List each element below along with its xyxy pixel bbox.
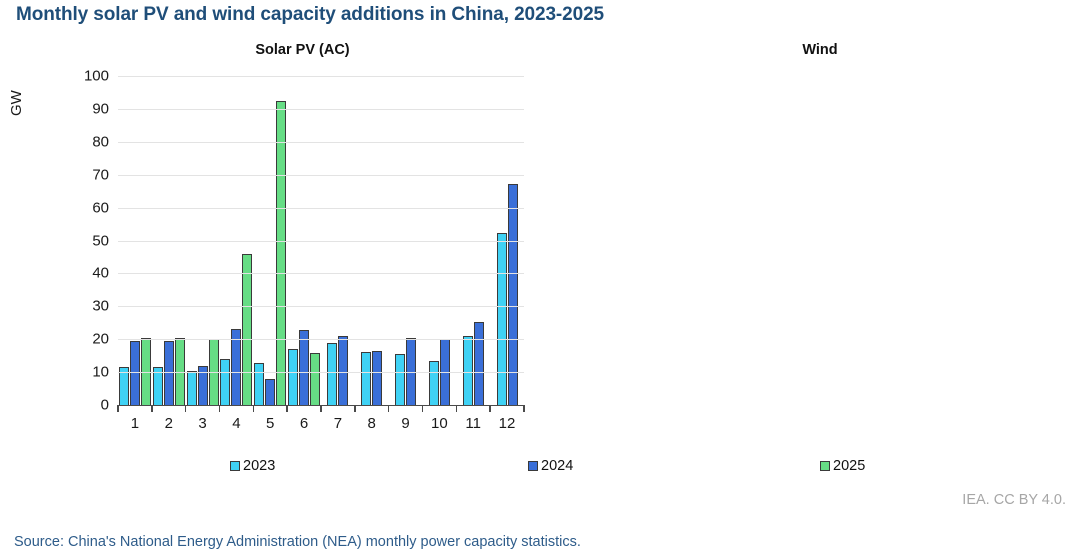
- x-axis-tick-label: 2: [152, 415, 186, 432]
- bar-2023-month-7[interactable]: [327, 343, 337, 405]
- chart-title-wind: Wind: [545, 42, 1065, 58]
- x-axis-tick: [320, 405, 322, 412]
- y-axis-tick-label: 50: [92, 232, 109, 249]
- y-axis-unit-label: GW: [8, 90, 25, 116]
- legend-swatch-2025: [820, 461, 830, 471]
- plot-area-solar: 123456789101112 0102030405060708090100: [118, 76, 524, 406]
- x-axis-tick: [456, 405, 458, 412]
- x-axis-tick: [185, 405, 187, 412]
- gridline: [118, 142, 524, 143]
- legend-item-2025[interactable]: 2025: [820, 458, 865, 474]
- bar-2023-month-8[interactable]: [361, 352, 371, 405]
- legend-item-2024[interactable]: 2024: [528, 458, 573, 474]
- page-title: Monthly solar PV and wind capacity addit…: [16, 4, 604, 26]
- bar-2024-month-11[interactable]: [474, 322, 484, 405]
- bar-2025-month-4[interactable]: [242, 254, 252, 405]
- legend-label-2024: 2024: [541, 458, 573, 474]
- x-axis-tick: [354, 405, 356, 412]
- y-axis-tick-label: 100: [84, 68, 109, 85]
- bar-2024-month-8[interactable]: [372, 351, 382, 405]
- x-axis-tick: [523, 405, 525, 412]
- legend-swatch-2024: [528, 461, 538, 471]
- gridline: [118, 76, 524, 77]
- chart-title-solar: Solar PV (AC): [0, 42, 545, 58]
- panel-solar-pv: Solar PV (AC) GW 123456789101112 0102030…: [0, 38, 545, 448]
- legend-label-2023: 2023: [243, 458, 275, 474]
- y-axis-tick-label: 90: [92, 100, 109, 117]
- bar-2023-month-11[interactable]: [463, 336, 473, 405]
- bar-2024-month-4[interactable]: [231, 329, 241, 405]
- x-axis-tick-label: 10: [422, 415, 456, 432]
- bar-2024-month-6[interactable]: [299, 330, 309, 405]
- x-axis-tick: [151, 405, 153, 412]
- source-note: Source: China's National Energy Administ…: [14, 534, 581, 550]
- legend-item-2023[interactable]: 2023: [230, 458, 275, 474]
- bar-2023-month-10[interactable]: [429, 361, 439, 405]
- x-axis-tick-label: 4: [219, 415, 253, 432]
- x-axis-tick-label: 9: [389, 415, 423, 432]
- legend-label-2025: 2025: [833, 458, 865, 474]
- gridline: [118, 175, 524, 176]
- x-axis-tick-label: 6: [287, 415, 321, 432]
- x-axis-tick: [117, 405, 119, 412]
- bar-2023-month-3[interactable]: [187, 371, 197, 405]
- y-axis-tick-label: 20: [92, 331, 109, 348]
- bar-2023-month-9[interactable]: [395, 354, 405, 405]
- x-axis-tick: [422, 405, 424, 412]
- x-axis-tick-label: 11: [456, 415, 490, 432]
- bar-2024-month-2[interactable]: [164, 341, 174, 405]
- x-axis-tick-label: 1: [118, 415, 152, 432]
- panel-wind: Wind 123456789101112 0510152025303540: [545, 38, 1065, 448]
- x-axis-tick: [489, 405, 491, 412]
- x-axis-tick-label: 7: [321, 415, 355, 432]
- gridline: [118, 273, 524, 274]
- x-axis-tick: [219, 405, 221, 412]
- gridline: [118, 241, 524, 242]
- y-axis-tick-label: 30: [92, 298, 109, 315]
- y-axis-tick-label: 80: [92, 133, 109, 150]
- x-axis-tick-label: 8: [355, 415, 389, 432]
- x-axis-ticks-solar: [118, 405, 524, 412]
- x-axis-tick-label: 12: [490, 415, 524, 432]
- x-axis-tick: [388, 405, 390, 412]
- y-axis-tick-label: 70: [92, 166, 109, 183]
- gridline: [118, 109, 524, 110]
- chart-page: Monthly solar PV and wind capacity addit…: [0, 0, 1080, 556]
- iea-credit: IEA. CC BY 4.0.: [962, 492, 1066, 508]
- bar-2023-month-6[interactable]: [288, 349, 298, 405]
- bar-2024-month-5[interactable]: [265, 379, 275, 405]
- bar-2025-month-5[interactable]: [276, 101, 286, 405]
- bar-2023-month-12[interactable]: [497, 233, 507, 405]
- y-axis-tick-label: 10: [92, 364, 109, 381]
- bar-2024-month-7[interactable]: [338, 336, 348, 405]
- x-axis-tick: [253, 405, 255, 412]
- gridline: [118, 372, 524, 373]
- gridline: [118, 208, 524, 209]
- gridline: [118, 306, 524, 307]
- x-axis-tick-label: 5: [253, 415, 287, 432]
- bar-2023-month-5[interactable]: [254, 363, 264, 405]
- y-axis-tick-label: 40: [92, 265, 109, 282]
- x-axis-labels-solar: 123456789101112: [118, 415, 524, 432]
- x-axis-tick-label: 3: [186, 415, 220, 432]
- x-axis-tick: [286, 405, 288, 412]
- bar-2023-month-4[interactable]: [220, 359, 230, 405]
- legend-swatch-2023: [230, 461, 240, 471]
- y-axis-tick-label: 0: [101, 397, 109, 414]
- bar-2025-month-6[interactable]: [310, 353, 320, 405]
- gridline: [118, 339, 524, 340]
- y-axis-tick-label: 60: [92, 199, 109, 216]
